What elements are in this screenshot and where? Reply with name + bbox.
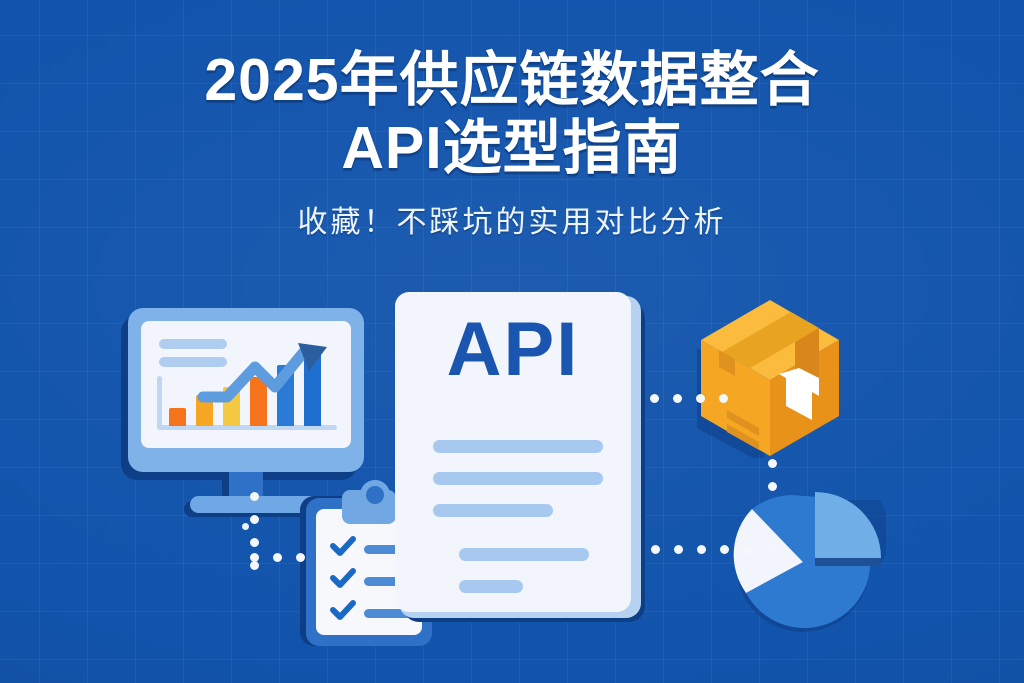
- document-line-4: [459, 548, 589, 561]
- connector-dot: [319, 553, 328, 562]
- connector-dot: [273, 553, 282, 562]
- document-line-3: [433, 504, 553, 517]
- poster-header: 2025年供应链数据整合 API选型指南 收藏！不踩坑的实用对比分析: [0, 46, 1024, 242]
- connector-dot: [250, 538, 259, 547]
- clipboard-clip-ring: [360, 480, 390, 510]
- connector-dot: [250, 561, 259, 570]
- connector-dot: [250, 492, 259, 501]
- connector-dot: [651, 545, 660, 554]
- connector-dot: [296, 553, 305, 562]
- bar-1: [169, 408, 186, 426]
- connector-dot: [650, 394, 659, 403]
- connector-monitor-to-clipboard-horizontal: [250, 553, 328, 562]
- connector-dot: [768, 459, 777, 468]
- connector-dot: [250, 515, 259, 524]
- page-title: 2025年供应链数据整合 API选型指南: [0, 46, 1024, 182]
- package-box-icon: [695, 298, 845, 458]
- monitor-screen: [141, 321, 351, 448]
- check-icon: [330, 535, 356, 564]
- connector-dot: [720, 545, 729, 554]
- connector-dot: [674, 545, 683, 554]
- connector-dot: [768, 482, 777, 491]
- title-line-1: 2025年供应链数据整合: [204, 47, 819, 113]
- chart-y-axis: [157, 376, 162, 429]
- check-icon: [330, 599, 356, 628]
- connector-doc-to-box: [650, 394, 728, 403]
- document-line-5: [459, 580, 523, 593]
- document-line-1: [433, 440, 603, 453]
- connector-dot: [673, 394, 682, 403]
- trend-arrow-icon: [197, 341, 345, 407]
- connector-dot: [250, 553, 259, 562]
- connector-dot: [766, 545, 775, 554]
- connector-doc-to-pie: [651, 545, 775, 554]
- connector-dot: [719, 394, 728, 403]
- monitor-illustration: [128, 308, 364, 518]
- monitor-power-dot: [242, 523, 249, 530]
- api-document-illustration: API: [395, 292, 645, 622]
- document-line-2: [433, 472, 603, 485]
- connector-dot: [697, 545, 706, 554]
- title-line-2: API选型指南: [0, 114, 1024, 182]
- poster-canvas: 2025年供应链数据整合 API选型指南 收藏！不踩坑的实用对比分析: [0, 0, 1024, 683]
- connector-dot: [696, 394, 705, 403]
- connector-box-to-pie: [768, 459, 777, 491]
- document-api-label: API: [395, 310, 631, 390]
- connector-dot: [743, 545, 752, 554]
- page-subtitle: 收藏！不踩坑的实用对比分析: [0, 204, 1024, 242]
- package-box-illustration: [695, 298, 845, 458]
- check-icon: [330, 567, 356, 596]
- document-page: API: [395, 292, 631, 612]
